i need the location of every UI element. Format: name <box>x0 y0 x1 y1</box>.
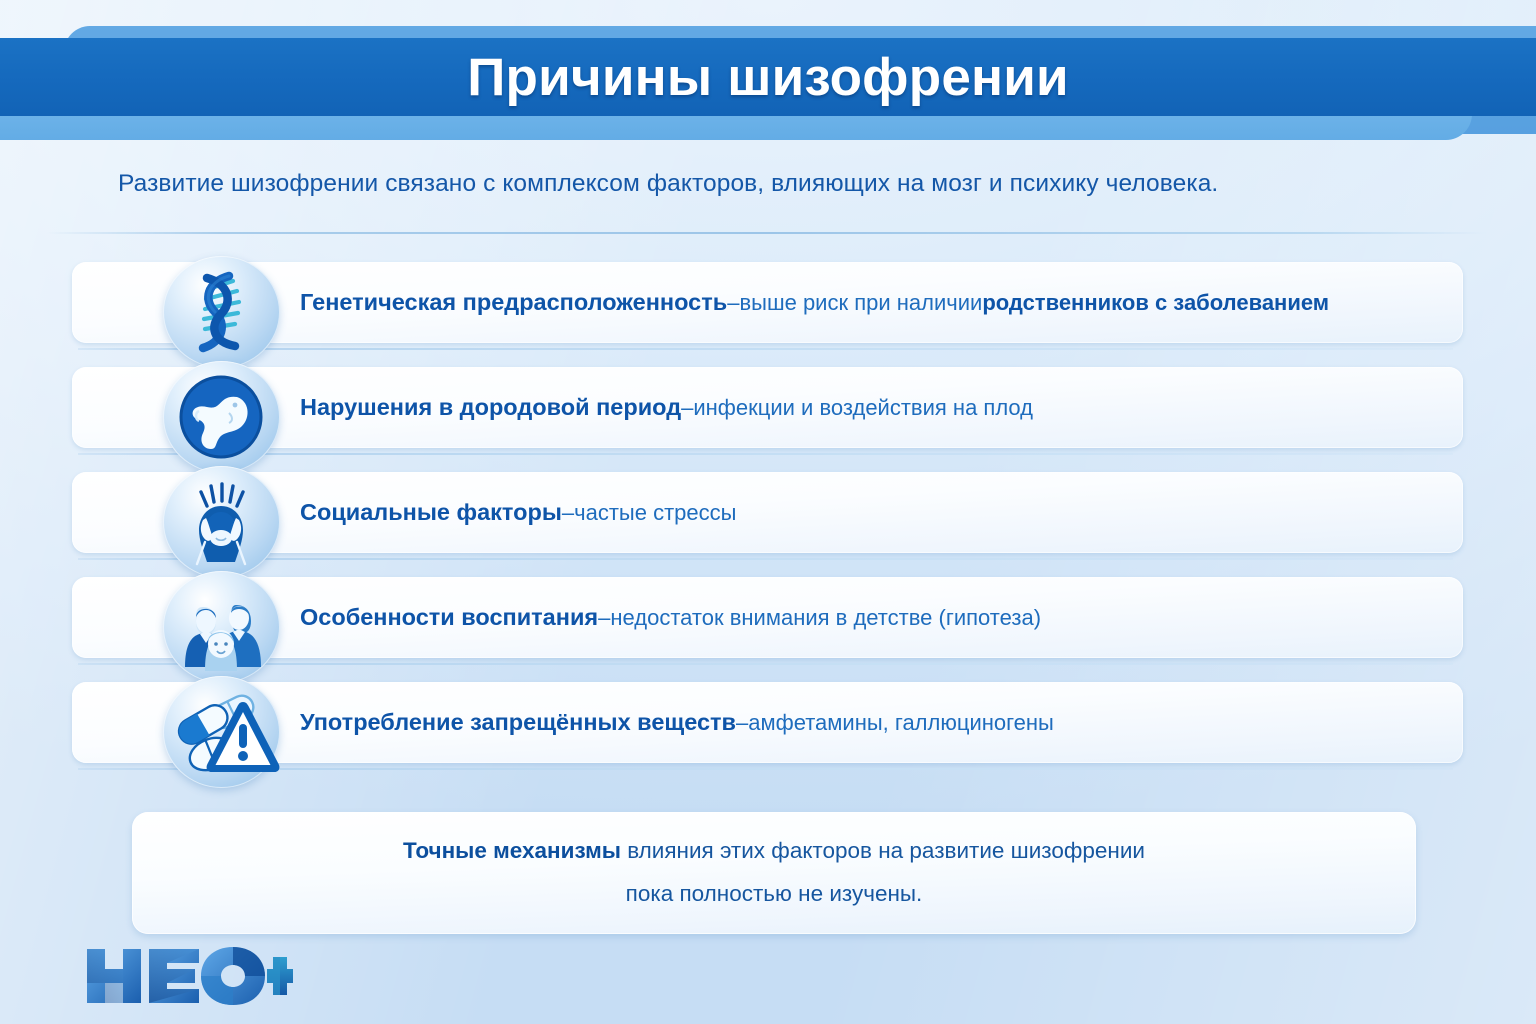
factor-desc: инфекции и воздействия на плод <box>693 395 1033 420</box>
card-text: Нарушения в дородовой период – инфекции … <box>300 367 1496 448</box>
conclusion-line-1: Точные механизмы влияния этих факторов н… <box>403 830 1145 873</box>
intro-text: Развитие шизофрении связано с комплексом… <box>118 170 1418 198</box>
list-item[interactable]: Генетическая предрасположенность – выше … <box>0 262 1536 362</box>
factor-dash: – <box>562 500 574 525</box>
card-text: Генетическая предрасположенность – выше … <box>300 262 1496 343</box>
factor-desc: амфетамины, галлюциногены <box>748 710 1054 735</box>
factor-desc-emphasis: родственников с заболеванием <box>982 290 1329 315</box>
factor-desc: частые стрессы <box>574 500 736 525</box>
factor-dash: – <box>727 290 739 315</box>
card-text: Употребление запрещённых веществ – амфет… <box>300 682 1496 763</box>
card-underline <box>78 348 1453 350</box>
factor-dash: – <box>598 605 610 630</box>
family-icon <box>163 571 280 683</box>
list-item[interactable]: Особенности воспитания – недостаток вним… <box>0 577 1536 677</box>
factor-title: Социальные факторы <box>300 499 562 526</box>
intro-divider <box>46 232 1486 234</box>
header-light-band-bottom <box>0 112 1472 140</box>
list-item[interactable]: Социальные факторы – частые стрессы <box>0 472 1536 572</box>
header: Причины шизофрении <box>0 0 1536 150</box>
factor-desc: недостаток внимания в детстве (гипотеза) <box>610 605 1041 630</box>
factor-title: Нарушения в дородовой период <box>300 394 681 421</box>
card-text: Особенности воспитания – недостаток вним… <box>300 577 1496 658</box>
conclusion-emphasis: Точные механизмы <box>403 838 621 863</box>
infographic-root: Причины шизофрении Развитие шизофрении с… <box>0 0 1536 1024</box>
list-item[interactable]: Нарушения в дородовой период – инфекции … <box>0 367 1536 467</box>
logo[interactable] <box>83 945 293 1007</box>
page-title: Причины шизофрении <box>0 38 1536 116</box>
card-underline <box>78 558 1453 560</box>
conclusion-box: Точные механизмы влияния этих факторов н… <box>132 812 1416 934</box>
conclusion-line-2: пока полностью не изучены. <box>626 873 923 916</box>
fetus-icon <box>163 361 280 473</box>
factor-desc: выше риск при наличии <box>739 290 982 315</box>
list-item[interactable]: Употребление запрещённых веществ – амфет… <box>0 682 1536 782</box>
factor-list: Генетическая предрасположенность – выше … <box>0 262 1536 787</box>
card-underline <box>78 768 1453 770</box>
stress-head-icon <box>163 466 280 578</box>
factor-dash: – <box>681 395 693 420</box>
pills-warning-icon <box>163 676 280 788</box>
card-underline <box>78 663 1453 665</box>
dna-icon <box>163 256 280 368</box>
factor-title: Генетическая предрасположенность <box>300 289 727 316</box>
card-underline <box>78 453 1453 455</box>
factor-title: Употребление запрещённых веществ <box>300 709 736 736</box>
factor-dash: – <box>736 710 748 735</box>
conclusion-line-1-rest: влияния этих факторов на развитие шизофр… <box>621 838 1145 863</box>
factor-title: Особенности воспитания <box>300 604 598 631</box>
card-text: Социальные факторы – частые стрессы <box>300 472 1496 553</box>
